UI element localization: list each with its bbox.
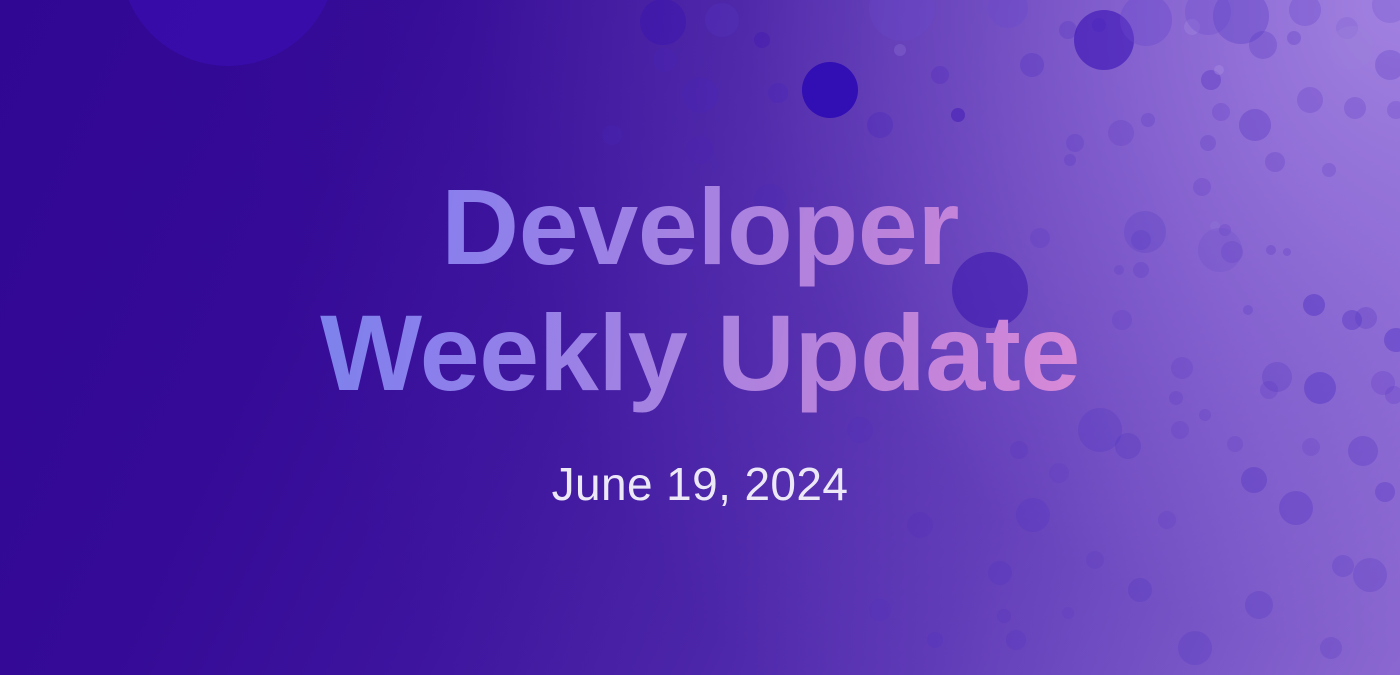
title-line-2: Weekly Update: [320, 290, 1080, 415]
title-line-1: Developer: [320, 164, 1080, 289]
banner-content: Developer Weekly Update June 19, 2024: [0, 0, 1400, 675]
developer-weekly-update-banner: Developer Weekly Update June 19, 2024: [0, 0, 1400, 675]
banner-date: June 19, 2024: [552, 457, 849, 511]
page-title: Developer Weekly Update: [320, 164, 1080, 415]
